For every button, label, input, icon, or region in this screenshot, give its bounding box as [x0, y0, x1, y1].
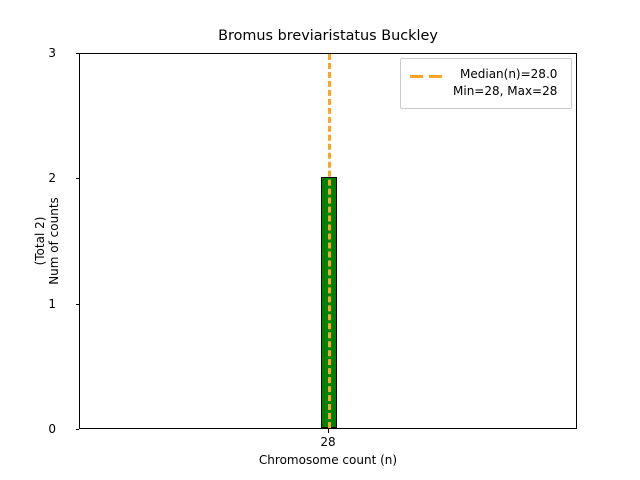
- ytick-mark-0: [76, 429, 80, 430]
- x-axis-label: Chromosome count (n): [79, 453, 577, 467]
- y-axis-label-group: Num of counts (Total 2): [0, 0, 62, 480]
- page-title: Bromus breviaristatus Buckley: [79, 27, 577, 45]
- y-axis-total-label: (Total 2): [34, 217, 46, 266]
- legend-median-label: Median(n)=28.0: [453, 66, 557, 83]
- ytick-label-3: 3: [16, 47, 56, 59]
- xtick-label-28: 28: [298, 436, 358, 448]
- median-line: [328, 54, 331, 428]
- ytick-label-2: 2: [16, 172, 56, 184]
- chart-figure: Bromus breviaristatus Buckley 0 1 2 3 Nu…: [0, 0, 640, 480]
- plot-area: [79, 53, 577, 429]
- legend-minmax-label: Min=28, Max=28: [453, 83, 557, 100]
- ytick-label-1: 1: [16, 298, 56, 310]
- y-axis-label: Num of counts: [48, 197, 60, 285]
- ytick-label-0: 0: [16, 423, 56, 435]
- median-line-swatch-icon: [410, 69, 444, 85]
- legend-text-group: Median(n)=28.0 Min=28, Max=28: [453, 66, 557, 100]
- chart-legend: Median(n)=28.0 Min=28, Max=28: [400, 58, 572, 109]
- xtick-mark-28: [328, 429, 329, 433]
